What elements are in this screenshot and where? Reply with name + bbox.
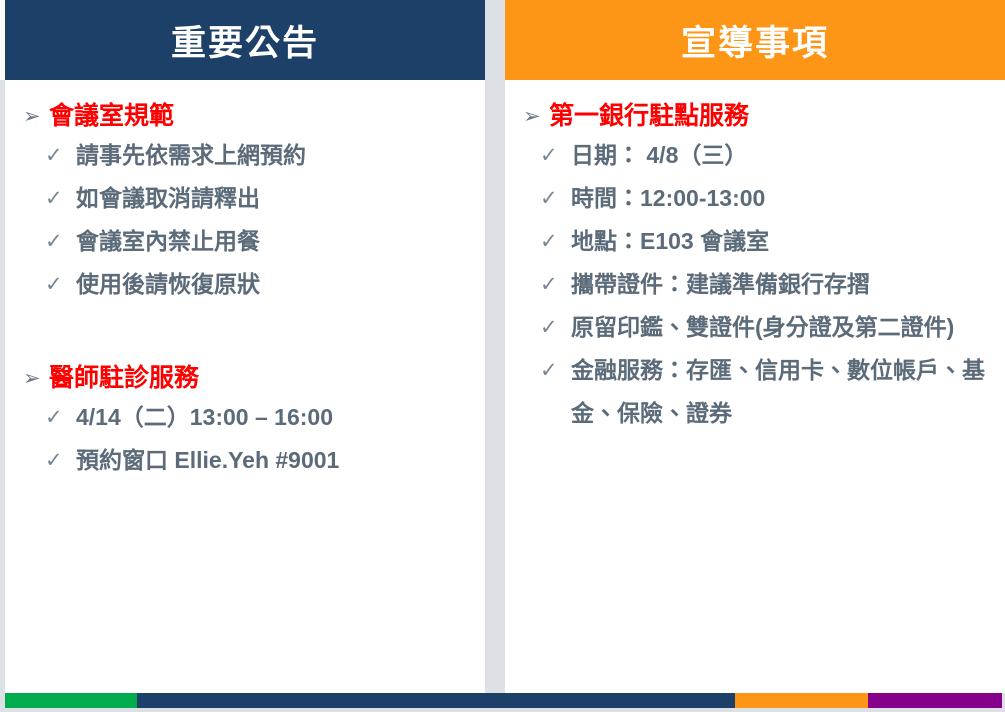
list-item-text: 攜帶證件：建議準備銀行存摺 [571,263,870,306]
list-item: ✓ 攜帶證件：建議準備銀行存摺 [505,263,1005,306]
list-item: ✓ 預約窗口 Ellie.Yeh #9001 [5,439,485,482]
list-item-text: 使用後請恢復原狀 [76,263,260,306]
section-heading-text: 會議室規範 [49,100,174,132]
list-item-text: 預約窗口 Ellie.Yeh #9001 [76,439,339,482]
purple-segment [868,693,1002,708]
list-item: ✓ 請事先依需求上網預約 [5,134,485,177]
orange-segment [735,693,868,708]
panel-right-header: 宣導事項 [505,0,1005,80]
panel-important-announcements: 重要公告 ➢ 會議室規範 ✓ 請事先依需求上網預約 ✓ 如會議取消請釋出 [5,0,485,693]
navy-segment [137,693,735,708]
check-icon: ✓ [540,349,571,392]
list-item-text: 時間：12:00-13:00 [571,177,765,220]
panel-left-body: ➢ 會議室規範 ✓ 請事先依需求上網預約 ✓ 如會議取消請釋出 ✓ 會議室內禁止… [5,80,485,482]
check-icon: ✓ [45,177,76,220]
list-item: ✓ 金融服務：存匯、信用卡、數位帳戶、基金、保險、證券 [505,349,1005,435]
arrow-right-icon: ➢ [23,101,49,133]
arrow-right-icon: ➢ [523,101,549,133]
section-heading-doctor-onsite-service: ➢ 醫師駐診服務 [5,362,485,396]
bottom-color-bar [0,693,1005,708]
list-item-text: 會議室內禁止用餐 [76,220,260,263]
list-item: ✓ 地點：E103 會議室 [505,220,1005,263]
list-item: ✓ 會議室內禁止用餐 [5,220,485,263]
list-item-text: 日期： 4/8（三） [571,134,747,177]
list-item: ✓ 如會議取消請釋出 [5,177,485,220]
section-heading-first-bank-onsite-service: ➢ 第一銀行駐點服務 [505,100,1005,134]
check-icon: ✓ [45,220,76,263]
panel-left-header: 重要公告 [5,0,485,80]
section-first-bank-onsite-service: ➢ 第一銀行駐點服務 ✓ 日期： 4/8（三） ✓ 時間：12:00-13:00… [505,80,1005,435]
panel-advisory-items: 宣導事項 ➢ 第一銀行駐點服務 ✓ 日期： 4/8（三） ✓ 時間：12:00-… [505,0,1005,693]
doctor-onsite-service-list: ✓ 4/14（二）13:00 – 16:00 ✓ 預約窗口 Ellie.Yeh … [5,396,485,482]
check-icon: ✓ [540,220,571,263]
meeting-room-rules-list: ✓ 請事先依需求上網預約 ✓ 如會議取消請釋出 ✓ 會議室內禁止用餐 ✓ 使用後… [5,134,485,306]
section-heading-meeting-room-rules: ➢ 會議室規範 [5,100,485,134]
first-bank-onsite-service-list: ✓ 日期： 4/8（三） ✓ 時間：12:00-13:00 ✓ 地點：E103 … [505,134,1005,435]
list-item-text: 金融服務：存匯、信用卡、數位帳戶、基金、保險、證券 [571,349,1005,435]
list-item: ✓ 時間：12:00-13:00 [505,177,1005,220]
green-segment [5,693,137,708]
check-icon: ✓ [45,439,76,482]
check-icon: ✓ [45,134,76,177]
list-item-text: 如會議取消請釋出 [76,177,260,220]
panel-divider [485,0,505,693]
panel-right-body: ➢ 第一銀行駐點服務 ✓ 日期： 4/8（三） ✓ 時間：12:00-13:00… [505,80,1005,435]
list-item-text: 請事先依需求上網預約 [76,134,306,177]
panel-right-title: 宣導事項 [681,15,829,66]
panel-left-title: 重要公告 [171,15,319,66]
section-heading-text: 第一銀行駐點服務 [549,100,749,132]
list-item: ✓ 使用後請恢復原狀 [5,263,485,306]
section-doctor-onsite-service: ➢ 醫師駐診服務 ✓ 4/14（二）13:00 – 16:00 ✓ 預約窗口 E… [5,306,485,482]
list-item: ✓ 4/14（二）13:00 – 16:00 [5,396,485,439]
check-icon: ✓ [45,396,76,439]
arrow-right-icon: ➢ [23,363,49,395]
slide-page: 重要公告 ➢ 會議室規範 ✓ 請事先依需求上網預約 ✓ 如會議取消請釋出 [0,0,1005,712]
check-icon: ✓ [540,306,571,349]
check-icon: ✓ [540,177,571,220]
list-item: ✓ 日期： 4/8（三） [505,134,1005,177]
bottom-gutter [0,708,1005,712]
check-icon: ✓ [540,263,571,306]
list-item-text: 地點：E103 會議室 [571,220,769,263]
list-item: ✓ 原留印鑑、雙證件(身分證及第二證件) [505,306,1005,349]
section-meeting-room-rules: ➢ 會議室規範 ✓ 請事先依需求上網預約 ✓ 如會議取消請釋出 ✓ 會議室內禁止… [5,80,485,306]
list-item-text: 原留印鑑、雙證件(身分證及第二證件) [571,306,954,349]
check-icon: ✓ [45,263,76,306]
list-item-text: 4/14（二）13:00 – 16:00 [76,396,333,439]
check-icon: ✓ [540,134,571,177]
section-heading-text: 醫師駐診服務 [49,362,199,394]
